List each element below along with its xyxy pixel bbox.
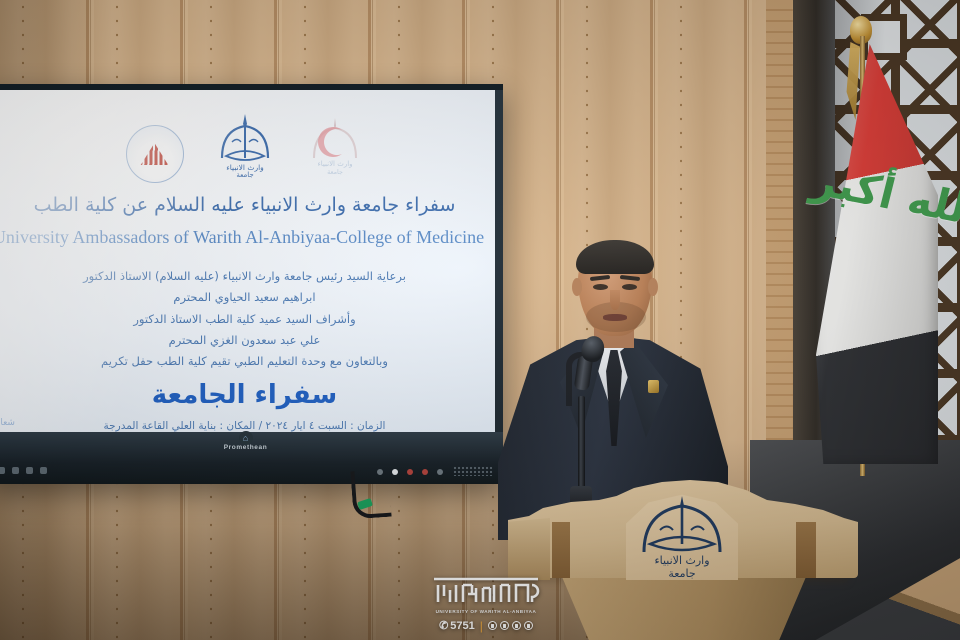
facebook-icon xyxy=(488,621,497,630)
indicator-led xyxy=(437,469,443,475)
slide-title-arabic: سفراء جامعة وارث الانبياء عليه السلام عن… xyxy=(0,194,495,216)
svg-text:وارث الانبياء: وارث الانبياء xyxy=(654,554,709,567)
power-cable xyxy=(350,469,391,520)
flag-tassel xyxy=(844,42,860,120)
slide-title-english: University Ambassadors of Warith Al-Anbi… xyxy=(0,227,489,248)
university-emblem-svg: وارث الانبياء جامعة xyxy=(214,112,276,178)
lapel-pin-icon xyxy=(648,380,659,393)
eye-left xyxy=(593,284,608,290)
slide-body-line: علي عبد سعدون الغزي المحترم xyxy=(8,330,481,351)
indicator-led xyxy=(407,469,413,475)
iraqi-flag xyxy=(816,44,938,464)
mouth xyxy=(603,314,627,321)
home-button-icon[interactable]: ⌂ xyxy=(239,431,253,445)
warith-al-anbiyaa-university-emblem: وارث الانبياء جامعة xyxy=(214,112,276,183)
watermark-separator: | xyxy=(480,620,483,632)
menu-button-icon[interactable] xyxy=(392,469,398,475)
medicine-college-logo-svg: وارث الانبياء جامعة xyxy=(306,116,364,178)
slide-body-line: ابراهيم سعيد الحياوي المحترم xyxy=(8,287,481,308)
speaking-podium: وارث الانبياء جامعة xyxy=(508,478,858,640)
channel-watermark: UNIVERSITY OF WARITH AL-ANBIYAA ✆ 5751 | xyxy=(424,576,548,632)
instagram-icon xyxy=(500,621,509,630)
photo-canvas: الله أكبر xyxy=(0,0,960,640)
podium-university-emblem: وارث الانبياء جامعة xyxy=(620,494,744,580)
presentation-slide: وارث الانبياء جامعة وارث الانبياء جامعة xyxy=(0,90,495,432)
svg-text:وارث الانبياء: وارث الانبياء xyxy=(317,160,352,168)
watermark-subtitle: UNIVERSITY OF WARITH AL-ANBIYAA xyxy=(436,609,537,614)
slide-headline: سفراء الجامعة xyxy=(0,380,495,410)
svg-text:جامعة: جامعة xyxy=(327,168,343,176)
nose xyxy=(610,290,620,310)
watermark-phone: ✆ 5751 xyxy=(439,619,475,632)
display-screen[interactable]: وارث الانبياء جامعة وارث الانبياء جامعة xyxy=(0,90,495,432)
ear-right xyxy=(648,278,658,296)
podium-inlay-right xyxy=(796,522,816,578)
slide-body-line: برعاية السيد رئيس جامعة وارث الانبياء (ع… xyxy=(8,266,481,287)
svg-text:جامعة: جامعة xyxy=(236,171,253,178)
kufic-logo-svg xyxy=(432,576,540,606)
iraqi-flag-assembly: الله أكبر xyxy=(782,8,932,500)
speaker-grille-icon xyxy=(453,466,493,476)
svg-text:جامعة: جامعة xyxy=(668,567,695,580)
slide-body-line: وأشراف السيد عميد كلية الطب الاستاذ الدك… xyxy=(8,309,481,330)
watermark-contact-row: ✆ 5751 | xyxy=(439,619,533,632)
podium-side-left xyxy=(508,518,550,580)
eye-right xyxy=(622,284,637,290)
telegram-icon xyxy=(512,621,521,630)
ear-left xyxy=(572,278,582,296)
podium-inlay-left xyxy=(552,522,570,578)
display-chin-bar: ⌂ Promethean xyxy=(0,432,503,484)
slide-body-line: وبالتعاون مع وحدة التعليم الطبي تقيم كلي… xyxy=(8,351,481,372)
watermark-social-row xyxy=(488,621,533,630)
youtube-icon xyxy=(524,621,533,630)
display-side-keys[interactable] xyxy=(0,467,47,474)
hair xyxy=(576,240,654,274)
promethean-display[interactable]: وارث الانبياء جامعة وارث الانبياء جامعة xyxy=(0,84,503,484)
college-of-medicine-red-crescent-logo: وارث الانبياء جامعة xyxy=(306,116,364,183)
phone-icon: ✆ xyxy=(439,619,448,632)
indicator-led xyxy=(422,469,428,475)
phone-number: 5751 xyxy=(450,620,474,632)
kufic-logo-mark xyxy=(432,576,540,606)
slide-corner-note: شعار xyxy=(0,418,15,428)
ministry-of-higher-education-logo xyxy=(126,125,184,183)
podium-base xyxy=(544,574,824,640)
slide-body: برعاية السيد رئيس جامعة وارث الانبياء (ع… xyxy=(8,266,481,372)
slide-logo-row: وارث الانبياء جامعة وارث الانبياء جامعة xyxy=(0,112,495,183)
display-brand-label: Promethean xyxy=(224,444,268,451)
